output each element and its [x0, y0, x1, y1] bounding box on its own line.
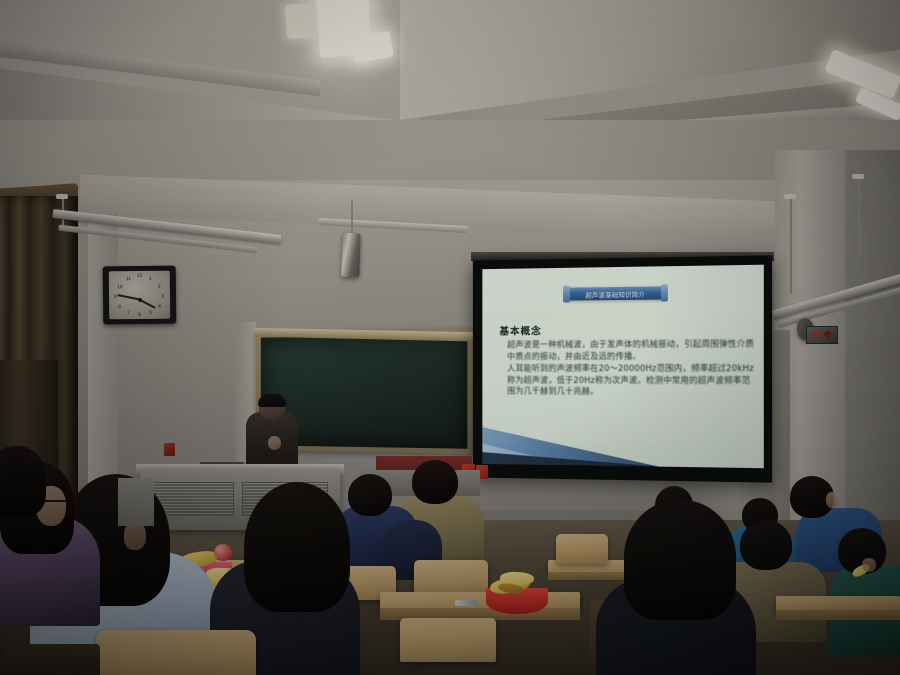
student-face [826, 492, 838, 508]
chair[interactable] [400, 618, 496, 662]
student-head [740, 520, 792, 570]
clock-numeral: 6 [138, 312, 141, 318]
presenter-hair [258, 394, 286, 407]
student-ear [124, 522, 146, 550]
student-hair [624, 500, 736, 620]
student-hand [862, 558, 876, 572]
clock-numeral: 10 [117, 284, 123, 290]
slide-heading: 基本概念 [499, 323, 541, 338]
red-sign [164, 443, 175, 456]
desk [776, 596, 900, 611]
light-hanger-cap [56, 194, 68, 199]
wall-clock: 12 1 2 3 4 5 6 7 8 9 10 11 [103, 266, 177, 325]
slide-title-banner: 超声波基础知识简介 [567, 286, 664, 300]
presentation-slide: 超声波基础知识简介 基本概念 超声波是一种机械波，由于发声体的机械振动，引起周围… [482, 265, 763, 469]
glasses-icon [44, 500, 66, 502]
light-hanger-cap [852, 174, 864, 179]
clock-numeral: 12 [137, 273, 143, 279]
clock-numeral: 3 [161, 294, 164, 300]
desk-pen[interactable] [455, 600, 477, 606]
student-head [348, 474, 392, 516]
student-head [412, 460, 458, 504]
clock-numeral: 11 [126, 276, 131, 282]
clock-numeral: 5 [149, 310, 152, 316]
clock-minute-hand [117, 294, 140, 300]
light-hanger-cap [784, 194, 796, 199]
wall-notice-dot [812, 331, 819, 338]
light-hanger-rod-right-a [790, 196, 792, 294]
wall-pillar-left [88, 214, 118, 514]
fruit-apple [214, 544, 232, 561]
wall-pillar-right-edge [845, 150, 900, 570]
slide-title-text: 超声波基础知识简介 [585, 288, 645, 299]
classroom-scene: 12 1 2 3 4 5 6 7 8 9 10 11 超声波基础知识简介 [0, 0, 900, 675]
clock-numeral: 1 [149, 276, 152, 282]
clock-numeral: 8 [118, 304, 121, 310]
presenter-hand [268, 436, 281, 450]
desk [380, 592, 580, 609]
chair[interactable] [4, 644, 100, 675]
clock-numeral: 2 [158, 284, 161, 290]
clock-numeral: 7 [127, 310, 130, 316]
student-hair [0, 446, 46, 516]
chair[interactable] [414, 560, 488, 596]
clock-center-pin [138, 298, 142, 302]
light-hanger-rod-right-b [858, 176, 860, 254]
ceiling-speaker [341, 233, 361, 278]
slide-body: 超声波是一种机械波，由于发声体的机械振动，引起周围弹性介质中质点的振动，并由近及… [507, 338, 755, 399]
slide-paragraph: 超声波是一种机械波，由于发声体的机械振动，引起周围弹性介质中质点的振动，并由近及… [507, 338, 755, 362]
speaker-hanger-rod [351, 200, 353, 234]
clock-face: 12 1 2 3 4 5 6 7 8 9 10 11 [109, 271, 170, 320]
chair[interactable] [556, 534, 608, 564]
ceiling-light-icon [285, 3, 314, 39]
clock-numeral: 4 [158, 304, 161, 310]
wall-cabinet [118, 478, 154, 526]
slide-paragraph: 人耳能听到的声波频率在20～20000Hz范围内，频率超过20kHz称为超声波，… [507, 363, 755, 398]
wall-notice-dot [824, 331, 831, 338]
student-hair [244, 482, 350, 612]
desk-side [776, 610, 900, 620]
wall-notice-right [806, 326, 838, 344]
chair[interactable] [96, 630, 256, 675]
projection-screen[interactable]: 超声波基础知识简介 基本概念 超声波是一种机械波，由于发声体的机械振动，引起周围… [473, 255, 772, 482]
